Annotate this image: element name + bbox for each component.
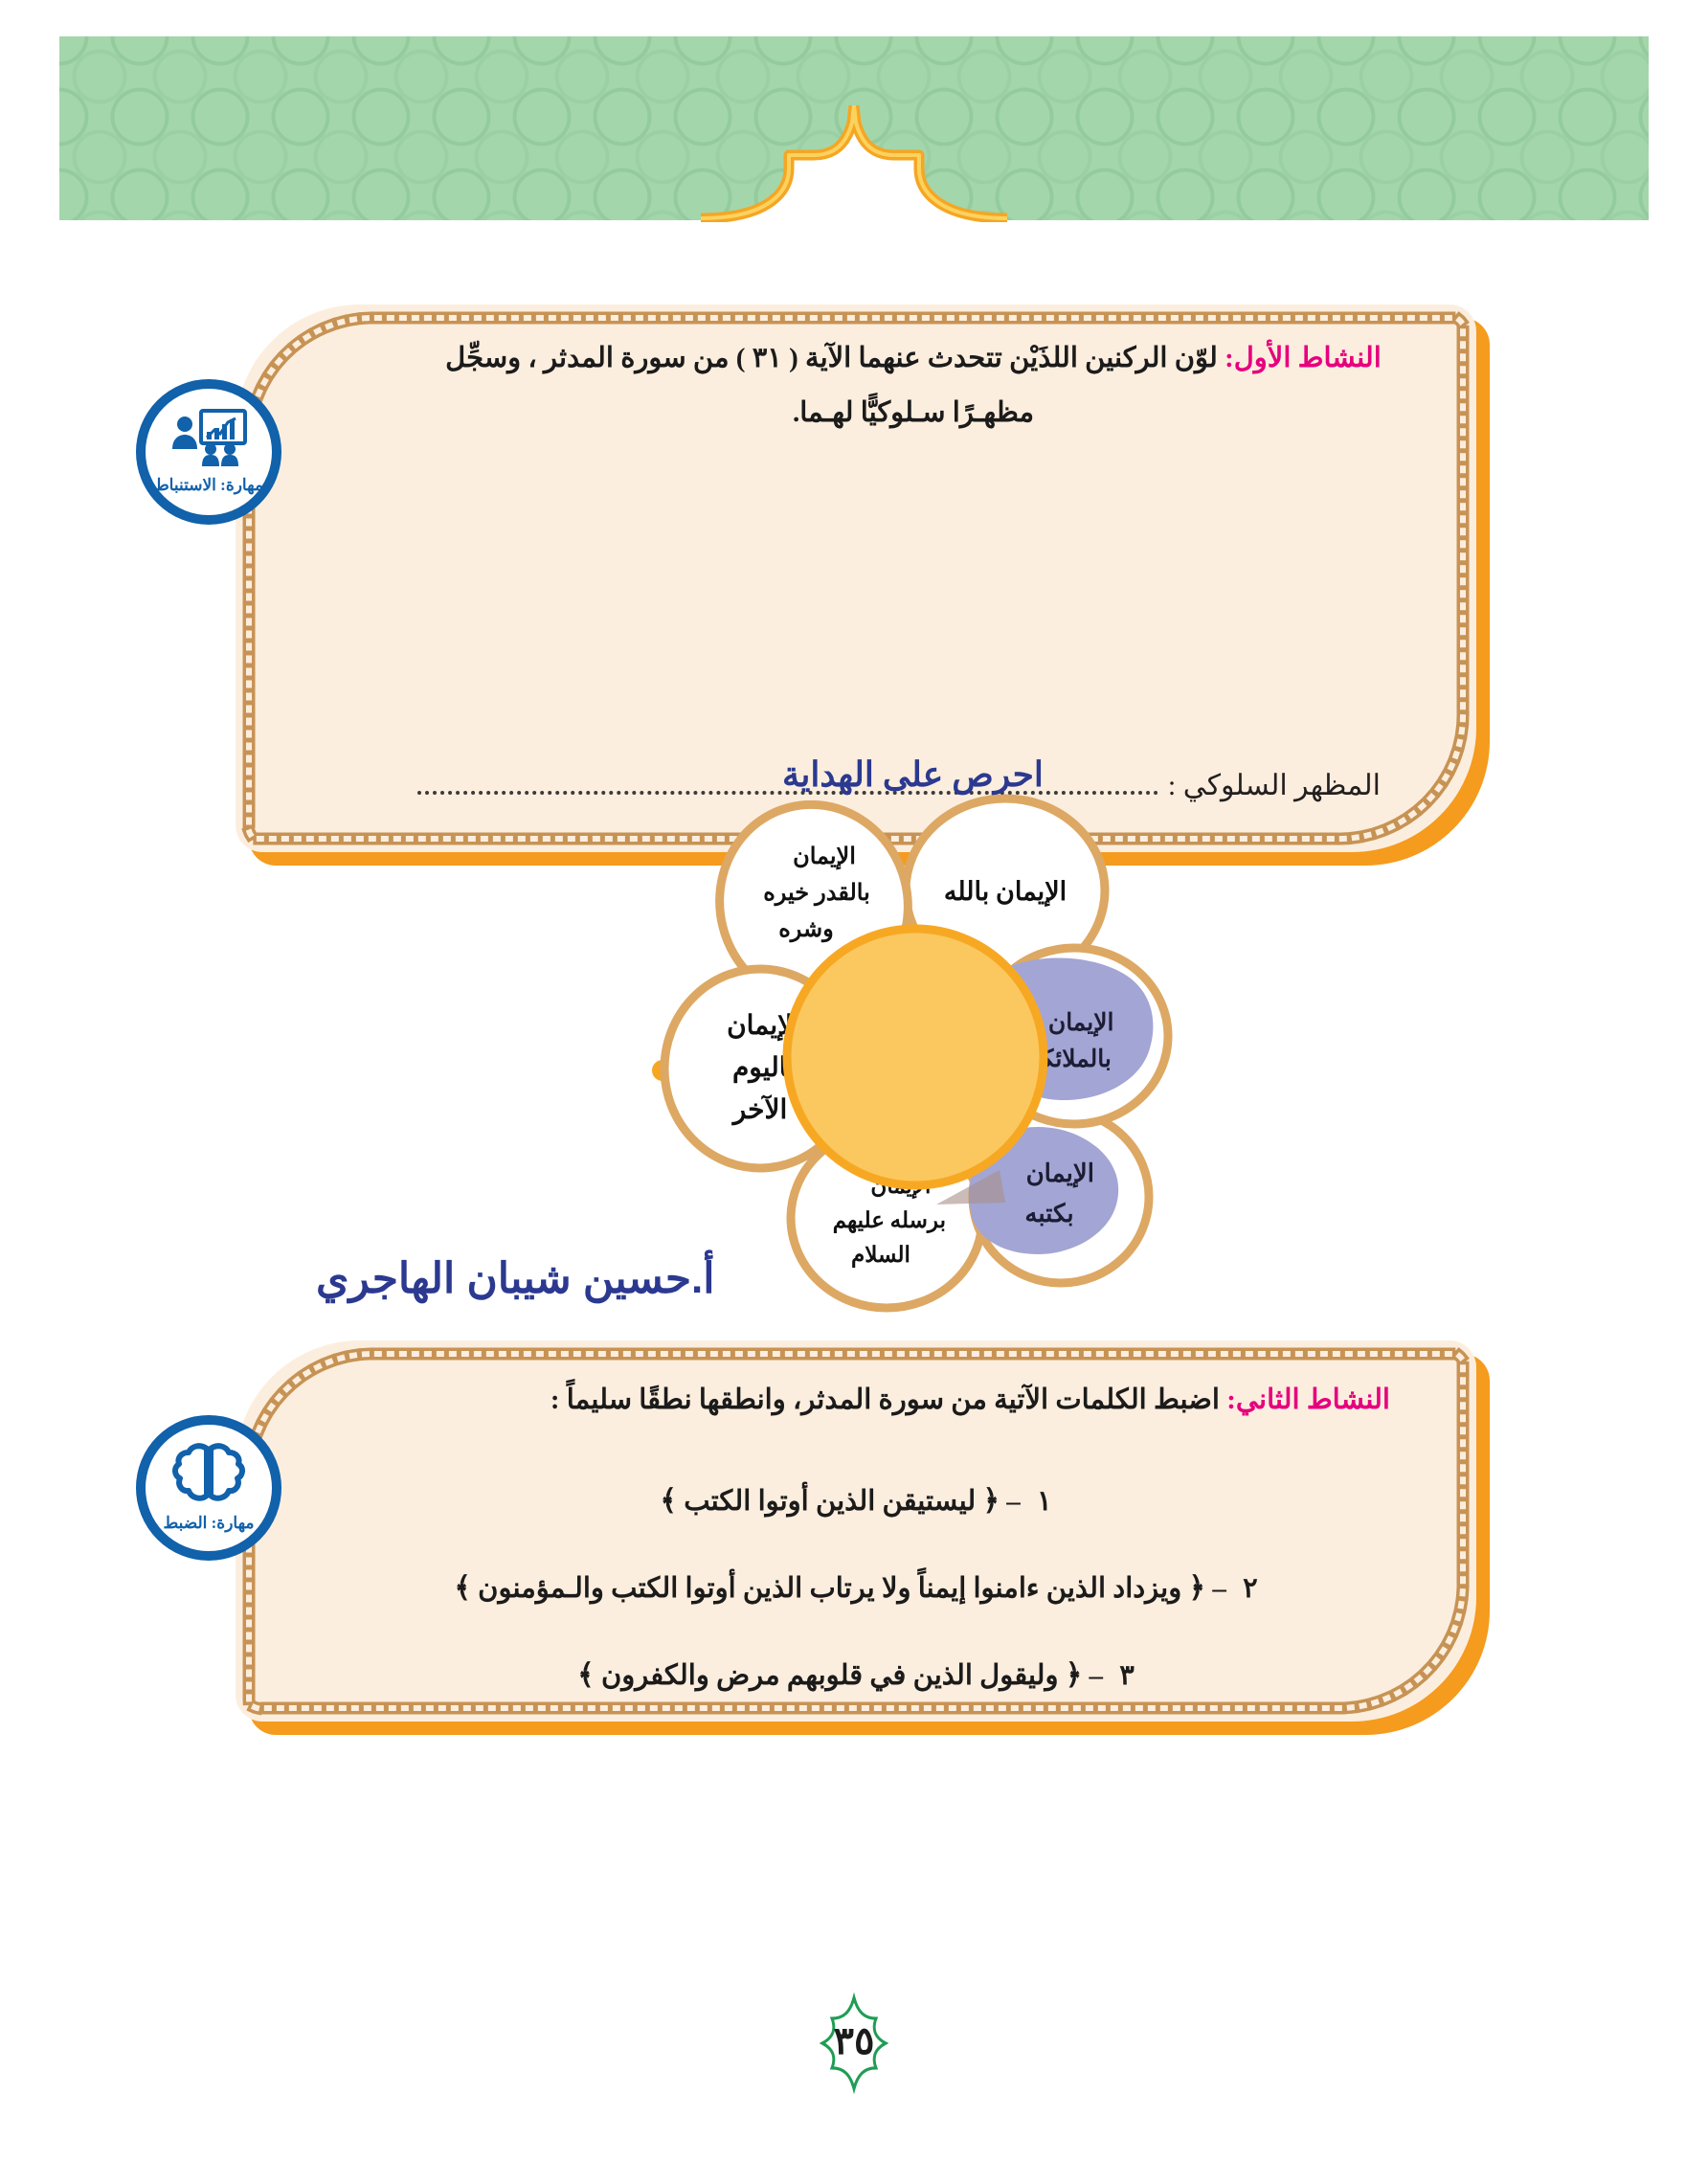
behavior-answer-blank[interactable]: احرص على الهداية xyxy=(417,777,1158,795)
activity-one-prompt: النشاط الأول: لوّن الركنين اللذَيْن تتحد… xyxy=(437,331,1390,439)
verse-item: ٣ – ﴿ وليقول الذين في قلوبهم مرض والكفرو… xyxy=(341,1658,1371,1692)
verse-number: ١ xyxy=(1037,1486,1052,1517)
flower-center xyxy=(787,929,1044,1185)
ayah-close-bracket-icon: ﴾ xyxy=(660,1485,677,1517)
verse-item: ٢ – ﴿ ويزداد الذين ءامنوا إيمناً ولا يرت… xyxy=(341,1571,1371,1605)
page-header-band xyxy=(59,36,1649,220)
activity-one-prompt-line1: لوّن الركنين اللذَيْن تتحدث عنهما الآية … xyxy=(445,343,1218,373)
activity-two-prompt-text: اضبط الكلمات الآتية من سورة المدثر، وانط… xyxy=(551,1384,1220,1415)
verse-dash: – xyxy=(1090,1660,1104,1691)
activity-two-tag: النشاط الثاني: xyxy=(1226,1384,1390,1415)
presentation-chart-audience-icon xyxy=(169,409,249,473)
islamic-arch-ornament-icon xyxy=(701,105,1007,222)
page-number-text: ٣٥ xyxy=(834,2018,875,2063)
verse-text: ويزداد الذين ءامنوا إيمناً ولا يرتاب الذ… xyxy=(478,1573,1181,1604)
skill-badge-istinbat: مهارة: الاستنباط xyxy=(136,379,281,525)
verse-number: ٢ xyxy=(1243,1573,1258,1604)
svg-text:الإيمان بالله: الإيمان بالله xyxy=(944,877,1067,908)
verse-dash: – xyxy=(1006,1486,1021,1517)
activity-two-card: النشاط الثاني: اضبط الكلمات الآتية من سو… xyxy=(236,1340,1476,1722)
activity-one-tag: النشاط الأول: xyxy=(1225,343,1382,373)
behavior-handwritten-answer: احرص على الهداية xyxy=(782,754,1044,795)
behavior-label: المظهر السلوكي : xyxy=(1168,769,1381,802)
pillars-of-faith-flower-diagram: الإيمان بالله الإيمان بالقدر خيره وشره ا… xyxy=(599,764,1193,1339)
ayah-open-bracket-icon: ﴿ xyxy=(1066,1659,1083,1691)
behavior-indicator-row: المظهر السلوكي : احرص على الهداية xyxy=(408,769,1381,802)
ayah-close-bracket-icon: ﴾ xyxy=(577,1659,595,1691)
verse-list: ١ – ﴿ ليستيقن الذين أوتوا الكتب ﴾ ٢ – ﴿ … xyxy=(341,1484,1371,1745)
ayah-open-bracket-icon: ﴿ xyxy=(1189,1572,1206,1604)
verse-dash: – xyxy=(1212,1573,1226,1604)
verse-number: ٣ xyxy=(1119,1660,1135,1691)
page-number: ٣٥ xyxy=(798,1984,910,2097)
activity-one-card: النشاط الأول: لوّن الركنين اللذَيْن تتحد… xyxy=(236,304,1476,852)
activity-one-prompt-line2: مظهـرًا سـلوكيًّا لهـما. xyxy=(437,386,1390,440)
activity-two-prompt: النشاط الثاني: اضبط الكلمات الآتية من سو… xyxy=(408,1373,1390,1428)
ayah-close-bracket-icon: ﴾ xyxy=(454,1572,471,1604)
verse-item: ١ – ﴿ ليستيقن الذين أوتوا الكتب ﴾ xyxy=(341,1484,1371,1518)
verse-text: ليستيقن الذين أوتوا الكتب xyxy=(684,1486,976,1517)
verse-text: وليقول الذين في قلوبهم مرض والكفرون xyxy=(601,1660,1059,1691)
ayah-open-bracket-icon: ﴿ xyxy=(982,1485,1000,1517)
skill-badge-dabt: مهارة: الضبط xyxy=(136,1415,281,1561)
teacher-name-annotation: أ.حسين شيبان الهاجري xyxy=(316,1254,715,1303)
brain-icon xyxy=(171,1443,246,1511)
skill-badge-dabt-label: مهارة: الضبط xyxy=(163,1514,254,1533)
skill-badge-istinbat-label: مهارة: الاستنباط xyxy=(154,476,263,495)
